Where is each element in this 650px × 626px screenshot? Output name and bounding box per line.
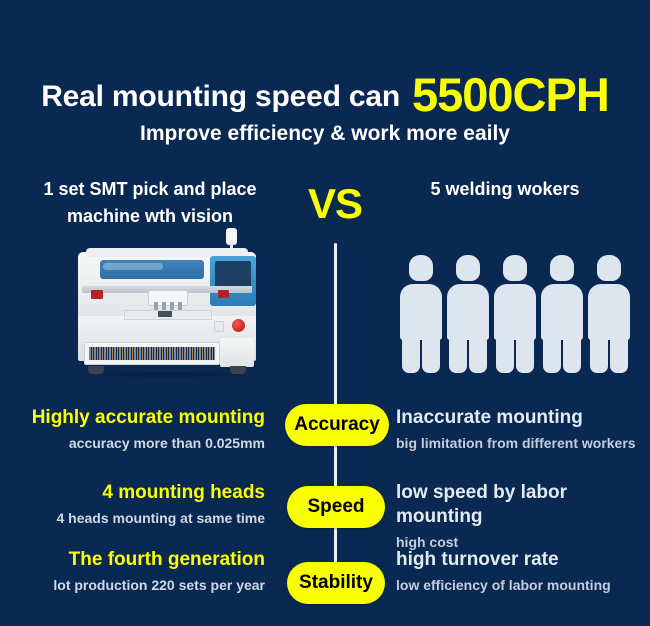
worker-body — [447, 284, 489, 340]
machine-clamp-left — [91, 290, 103, 299]
machine-control-button — [214, 321, 224, 332]
worker-icon — [541, 255, 583, 373]
row-speed-left: 4 mounting heads 4 heads mounting at sam… — [0, 481, 265, 529]
worker-head — [550, 255, 574, 281]
worker-leg-right — [516, 337, 534, 373]
worker-leg-right — [563, 337, 581, 373]
worker-leg-left — [543, 337, 561, 373]
row-accuracy-right: Inaccurate mounting big limitation from … — [396, 406, 650, 454]
connector-line-top — [334, 243, 337, 415]
worker-body — [541, 284, 583, 340]
worker-head — [409, 255, 433, 281]
headline-lead-text: Real mounting speed can — [41, 80, 400, 113]
row-accuracy-left-title: Highly accurate mounting — [0, 406, 265, 430]
machine-feeder-reels — [89, 347, 215, 360]
row-stability-left-title: The fourth generation — [0, 548, 265, 572]
row-speed-right-title: low speed by labor mounting — [396, 481, 650, 529]
row-speed-left-title: 4 mounting heads — [0, 481, 265, 505]
machine-foot-right — [230, 366, 246, 374]
row-stability-left: The fourth generation lot production 220… — [0, 548, 265, 596]
headline-value-text: 5500CPH — [412, 68, 609, 121]
worker-pictogram-group — [400, 255, 640, 375]
worker-leg-right — [610, 337, 628, 373]
machine-touchscreen-display — [215, 261, 251, 287]
worker-icon — [494, 255, 536, 373]
row-speed-right: low speed by labor mounting high cost — [396, 481, 650, 553]
worker-icon — [447, 255, 489, 373]
worker-body — [494, 284, 536, 340]
machine-pcb-component — [158, 311, 172, 317]
worker-leg-right — [422, 337, 440, 373]
infographic-canvas: Real mounting speed can5500CPH Improve e… — [0, 0, 650, 626]
machine-window-glare — [103, 263, 163, 270]
row-accuracy-right-sub: big limitation from different workers — [396, 433, 650, 454]
machine-foot-left — [88, 366, 104, 374]
worker-head — [597, 255, 621, 281]
pill-accuracy[interactable]: Accuracy — [285, 404, 389, 446]
machine-clamp-right — [218, 290, 229, 298]
machine-emergency-stop-button — [232, 319, 245, 332]
worker-body — [588, 284, 630, 340]
row-accuracy-left-sub: accuracy more than 0.025mm — [0, 433, 265, 454]
left-caption-line2: machine wth vision — [10, 203, 290, 230]
left-caption: 1 set SMT pick and place machine wth vis… — [10, 176, 290, 230]
worker-body — [400, 284, 442, 340]
machine-feeder-bank — [84, 342, 220, 365]
vs-label: VS — [295, 180, 375, 228]
subheadline-text: Improve efficiency & work more eaily — [0, 122, 650, 146]
smt-machine-illustration — [62, 238, 272, 390]
pill-speed[interactable]: Speed — [287, 486, 385, 528]
worker-icon — [400, 255, 442, 373]
row-stability-right-sub: low efficiency of labor mounting — [396, 575, 650, 596]
row-stability-right-title: high turnover rate — [396, 548, 650, 572]
row-accuracy-left: Highly accurate mounting accuracy more t… — [0, 406, 265, 454]
worker-leg-left — [402, 337, 420, 373]
right-caption-line1: 5 welding wokers — [370, 176, 640, 203]
right-caption: 5 welding wokers — [370, 176, 640, 203]
row-stability-right: high turnover rate low efficiency of lab… — [396, 548, 650, 596]
worker-leg-left — [590, 337, 608, 373]
row-stability-left-sub: lot production 220 sets per year — [0, 575, 265, 596]
row-accuracy-right-title: Inaccurate mounting — [396, 406, 650, 430]
row-speed-left-sub: 4 heads mounting at same time — [0, 508, 265, 529]
worker-leg-left — [496, 337, 514, 373]
headline: Real mounting speed can5500CPH — [0, 62, 650, 117]
worker-icon — [588, 255, 630, 373]
worker-head — [456, 255, 480, 281]
left-caption-line1: 1 set SMT pick and place — [10, 176, 290, 203]
pill-stability[interactable]: Stability — [287, 562, 385, 604]
worker-head — [503, 255, 527, 281]
worker-leg-right — [469, 337, 487, 373]
machine-side-cabinet — [220, 338, 254, 367]
worker-leg-left — [449, 337, 467, 373]
